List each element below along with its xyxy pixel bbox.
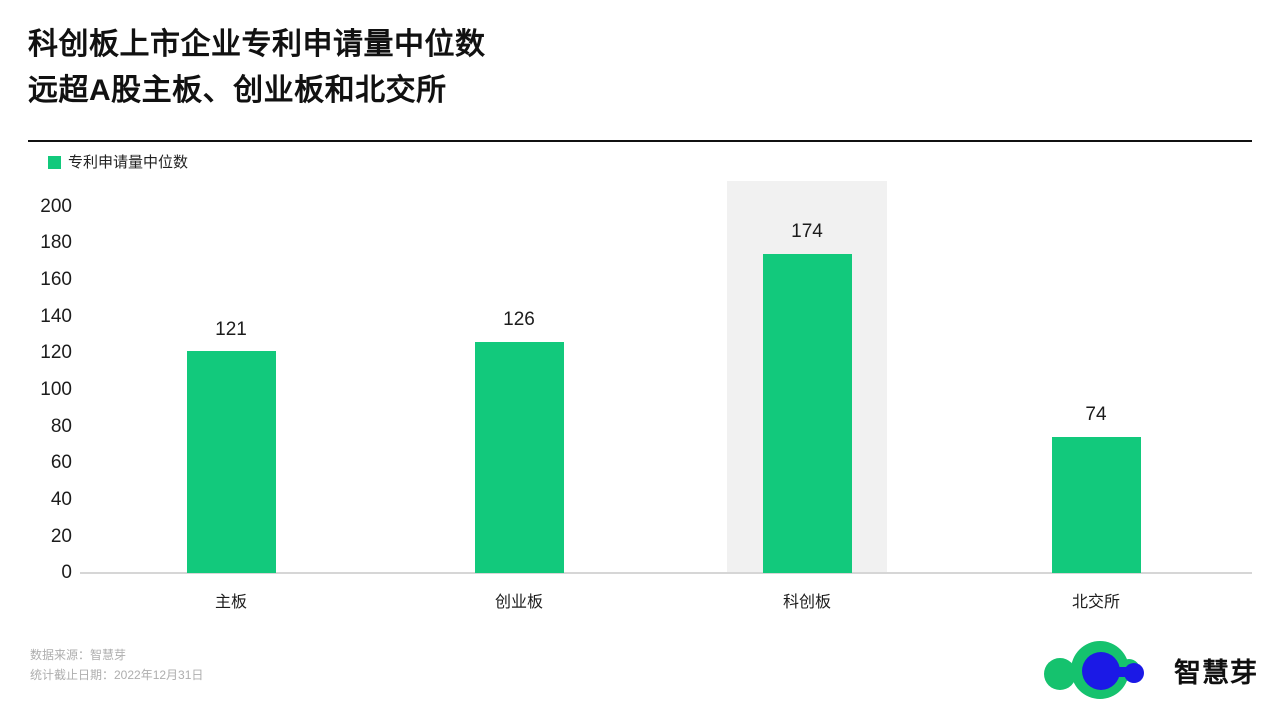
bar-chuangyeban[interactable]: [475, 342, 564, 573]
brand-name-text: 智慧芽: [1174, 658, 1258, 688]
y-axis-tick-40: 40: [10, 490, 72, 509]
y-axis-tick-20: 20: [10, 527, 72, 546]
y-axis-tick-60: 60: [10, 453, 72, 472]
y-axis-tick-80: 80: [10, 417, 72, 436]
slide-canvas: 科创板上市企业专利申请量中位数 远超A股主板、创业板和北交所 专利申请量中位数 …: [0, 0, 1280, 720]
y-axis-tick-100: 100: [10, 380, 72, 399]
x-axis-label-chuangyeban: 创业板: [459, 595, 579, 611]
x-axis-label-beijiaosuo: 北交所: [1036, 595, 1156, 611]
chart-plot-area: 200 180 160 140 120 100 80 60 40 20 0 12…: [0, 0, 1280, 720]
bar-beijiaosuo[interactable]: [1052, 437, 1141, 573]
x-axis-label-kechuangban: 科创板: [747, 595, 867, 611]
bar-value-kechuangban: 174: [747, 222, 867, 241]
x-axis-label-zhuban: 主板: [171, 595, 291, 611]
bar-zhuban[interactable]: [187, 351, 276, 573]
y-axis-tick-120: 120: [10, 343, 72, 362]
y-axis-tick-140: 140: [10, 307, 72, 326]
bar-value-chuangyeban: 126: [459, 310, 579, 329]
y-axis-tick-180: 180: [10, 233, 72, 252]
y-axis-tick-0: 0: [10, 563, 72, 582]
y-axis-tick-160: 160: [10, 270, 72, 289]
footer-data-source: 数据来源：智慧芽: [30, 645, 203, 665]
brand-logo-block: 智慧芽: [1034, 641, 1258, 704]
y-axis-tick-200: 200: [10, 197, 72, 216]
bar-value-zhuban: 121: [171, 320, 291, 339]
footer-source-block: 数据来源：智慧芽 统计截止日期：2022年12月31日: [30, 645, 203, 685]
bar-value-beijiaosuo: 74: [1036, 405, 1156, 424]
zhihuiya-logo-icon: [1034, 641, 1164, 704]
footer-cutoff-date: 统计截止日期：2022年12月31日: [30, 665, 203, 685]
bar-kechuangban[interactable]: [763, 254, 852, 573]
